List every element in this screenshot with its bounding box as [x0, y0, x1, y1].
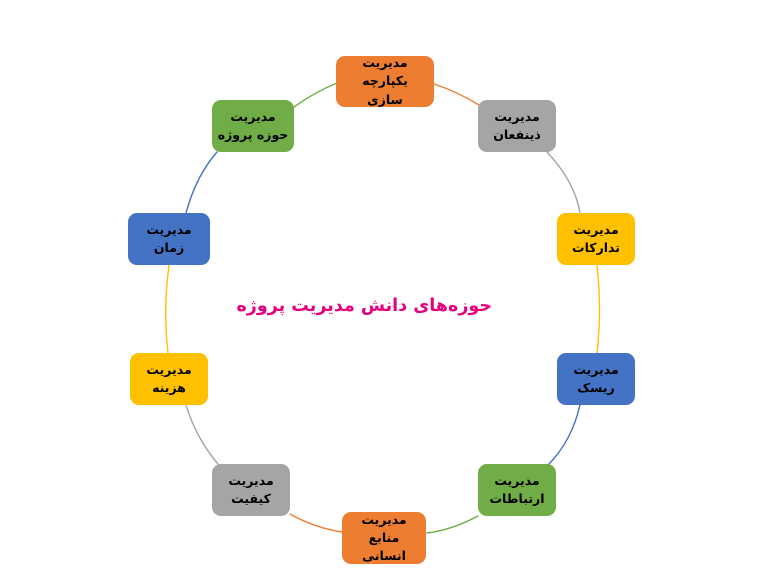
node-label-line: ارتباطات — [490, 490, 545, 508]
node-project-scope-management[interactable]: مدیریتحوزه پروژه — [212, 100, 294, 152]
connector-stakeholder-to-procurement — [547, 152, 580, 213]
node-quality-management[interactable]: مدیریتکیفیت — [212, 464, 290, 516]
connector-integration-to-stakeholder — [434, 84, 479, 105]
node-procurement-management[interactable]: مدیریتتدارکات — [557, 213, 635, 265]
node-label-line: حوزه پروژه — [218, 126, 289, 144]
connector-time-to-scope — [186, 152, 217, 213]
node-label-line: انسانی — [347, 547, 421, 565]
node-human-resource-management[interactable]: مدیریت منابعانسانی — [342, 512, 426, 564]
node-label-line: مدیریت منابع — [347, 511, 421, 547]
node-label-line: مدیریت — [572, 221, 620, 239]
project-management-knowledge-areas-diagram: مدیریت یکپارچهسازیمدیریتذینفعانمدیریتتدا… — [0, 0, 766, 584]
node-label-wrap: مدیریتارتباطات — [490, 472, 545, 508]
diagram-center-title: حوزه‌های دانش مدیریت پروژه — [252, 296, 492, 316]
node-label-wrap: مدیریتریسک — [573, 361, 618, 397]
connector-scope-to-integration — [294, 83, 337, 107]
connector-communications-to-hr — [427, 516, 478, 533]
node-label-line: مدیریت — [490, 472, 545, 490]
connector-risk-to-communications — [549, 405, 580, 464]
node-label-line: مدیریت یکپارچه — [341, 54, 429, 90]
node-label-wrap: مدیریتکیفیت — [228, 472, 273, 508]
node-communications-management[interactable]: مدیریتارتباطات — [478, 464, 556, 516]
node-label-wrap: مدیریتتدارکات — [572, 221, 620, 257]
node-label-line: مدیریت زمان — [133, 221, 205, 257]
connector-procurement-to-risk — [597, 265, 600, 353]
node-label-line: کیفیت — [228, 490, 273, 508]
node-label-wrap: مدیریتهزینه — [146, 361, 191, 397]
node-label-line: تدارکات — [572, 239, 620, 257]
connector-cost-to-time — [166, 265, 169, 353]
node-label-line: سازی — [341, 91, 429, 109]
connector-quality-to-cost — [186, 405, 218, 464]
node-label-line: مدیریت — [228, 472, 273, 490]
connector-hr-to-quality — [290, 514, 342, 532]
node-label-line: ذینفعان — [493, 126, 541, 144]
node-label-wrap: مدیریتحوزه پروژه — [218, 108, 289, 144]
node-label-wrap: مدیریت زمان — [133, 221, 205, 257]
node-label-wrap: مدیریت منابعانسانی — [347, 511, 421, 565]
node-stakeholder-management[interactable]: مدیریتذینفعان — [478, 100, 556, 152]
node-label-wrap: مدیریت یکپارچهسازی — [341, 54, 429, 108]
node-integration-management[interactable]: مدیریت یکپارچهسازی — [336, 56, 434, 107]
node-label-line: مدیریت — [146, 361, 191, 379]
node-label-line: مدیریت — [218, 108, 289, 126]
node-label-line: ریسک — [573, 379, 618, 397]
node-label-line: مدیریت — [493, 108, 541, 126]
node-time-management[interactable]: مدیریت زمان — [128, 213, 210, 265]
node-label-line: هزینه — [146, 379, 191, 397]
node-risk-management[interactable]: مدیریتریسک — [557, 353, 635, 405]
node-cost-management[interactable]: مدیریتهزینه — [130, 353, 208, 405]
node-label-wrap: مدیریتذینفعان — [493, 108, 541, 144]
node-label-line: مدیریت — [573, 361, 618, 379]
